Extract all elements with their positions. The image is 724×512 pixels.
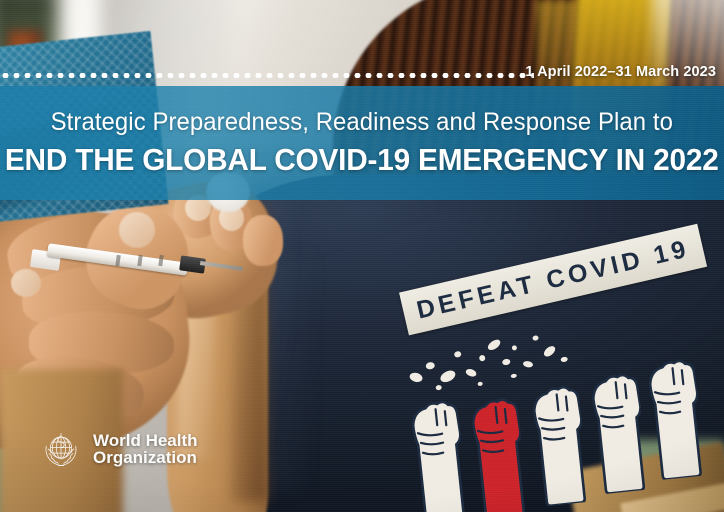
tshirt-artwork: DEFEAT COVID 19 (398, 278, 724, 512)
report-headline: END THE GLOBAL COVID-19 EMERGENCY IN 202… (5, 142, 719, 178)
tshirt-fold-secondary (261, 256, 312, 492)
fist-3 (520, 362, 590, 507)
who-logo: World Health Organization (38, 426, 198, 472)
who-line-2: Organization (93, 449, 198, 467)
who-emblem-icon (38, 426, 84, 472)
raised-fists-graphic (390, 323, 724, 512)
date-range-label: 1 April 2022–31 March 2023 (525, 64, 716, 80)
who-line-1: World Health (93, 432, 198, 450)
dotted-rule (0, 73, 534, 78)
fist-2-red (459, 375, 529, 512)
who-wordmark: World Health Organization (93, 432, 198, 467)
title-banner: Strategic Preparedness, Readiness and Re… (0, 86, 724, 200)
fist-1 (399, 377, 469, 512)
patient-finger (242, 214, 284, 267)
poster-cover: DEFEAT COVID 19 1 April 2022–31 March 20… (0, 0, 724, 512)
fist-5 (636, 336, 706, 481)
report-subtitle: Strategic Preparedness, Readiness and Re… (51, 108, 673, 137)
